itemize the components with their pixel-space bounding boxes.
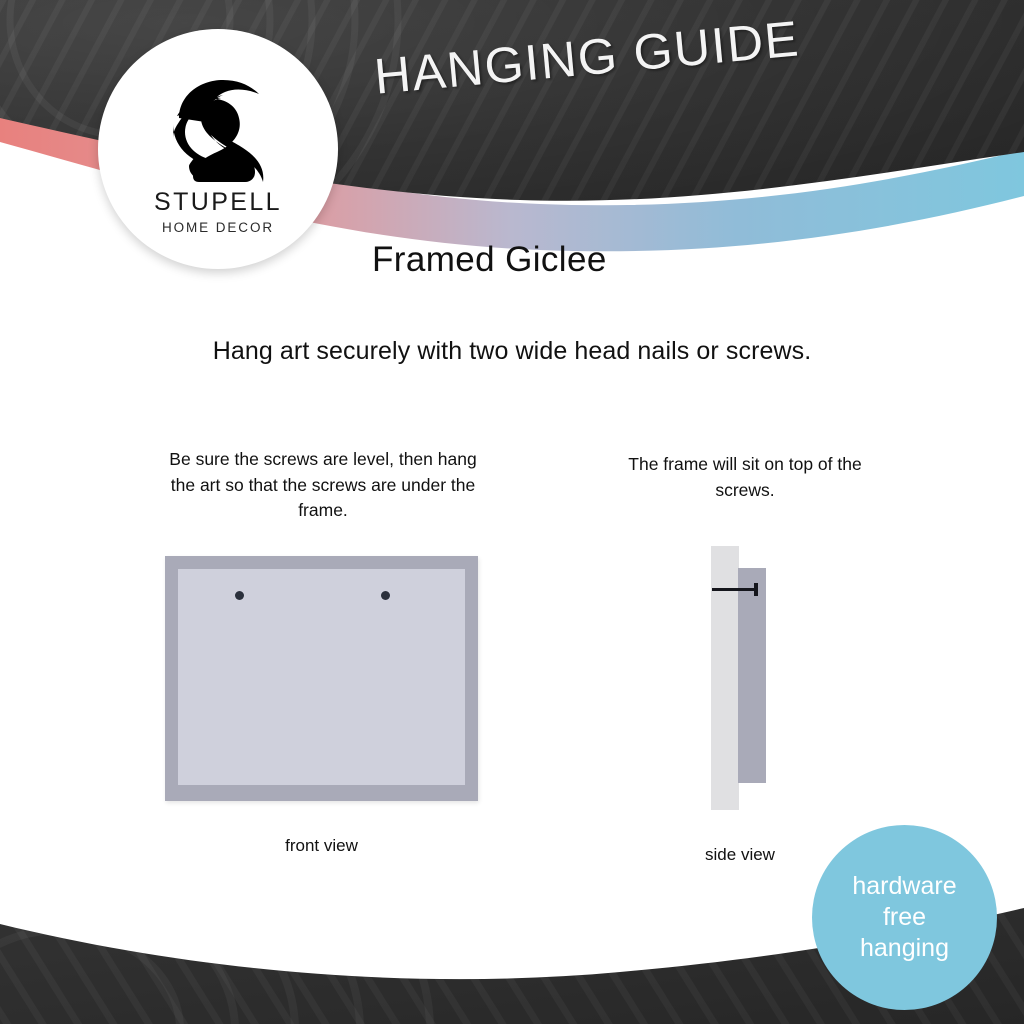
side-view-label: side view [660,845,820,865]
side-view-caption: The frame will sit on top of the screws. [600,452,890,503]
side-view-diagram [700,540,820,810]
front-view-diagram [165,556,478,801]
screw-shaft-icon [712,588,757,591]
screw-dot-right-icon [381,591,390,600]
hardware-free-hanging-badge: hardware free hanging [812,825,997,1010]
badge-line-1: hardware [852,871,956,902]
screw-head-icon [754,583,758,596]
logo-wordmark: STUPELL [154,190,282,215]
stupell-swoosh-icon [159,56,277,186]
front-view-artwork-area [178,569,465,785]
frame-profile [738,568,766,783]
wall-surface [711,546,739,810]
badge-line-2: free [883,902,926,933]
brand-logo-badge: STUPELL HOME DECOR [98,29,338,269]
main-instruction-text: Hang art securely with two wide head nai… [0,337,1024,366]
badge-line-3: hanging [860,933,949,964]
product-type-heading: Framed Giclee [372,240,607,280]
front-view-caption: Be sure the screws are level, then hang … [168,447,478,524]
page-title: HANGING GUIDE [372,9,802,105]
hanging-guide-page: STUPELL HOME DECOR HANGING GUIDE Framed … [0,0,1024,1024]
screw-dot-left-icon [235,591,244,600]
logo-tagline: HOME DECOR [162,221,274,235]
front-view-label: front view [165,836,478,856]
